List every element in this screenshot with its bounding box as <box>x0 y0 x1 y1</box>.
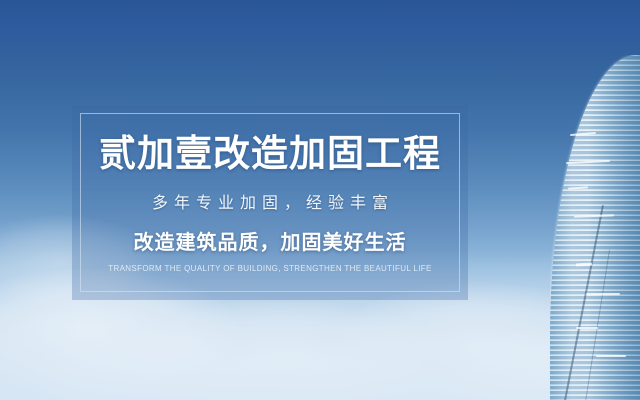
slogan-text: 改造建筑品质，加固美好生活 <box>134 226 407 255</box>
hero-banner: 贰加壹改造加固工程 多年专业加固，经验丰富 改造建筑品质，加固美好生活 TRAN… <box>0 0 640 400</box>
panel-content: 贰加壹改造加固工程 多年专业加固，经验丰富 改造建筑品质，加固美好生活 TRAN… <box>80 113 460 292</box>
window-reflection <box>596 355 626 357</box>
english-tagline: TRANSFORM THE QUALITY OF BUILDING, STREN… <box>108 264 431 273</box>
skyscraper-image <box>550 55 640 400</box>
tower-glass-sheen <box>550 55 640 400</box>
subheadline-text: 多年专业加固，经验丰富 <box>146 189 394 213</box>
text-panel: 贰加壹改造加固工程 多年专业加固，经验丰富 改造建筑品质，加固美好生活 TRAN… <box>72 105 468 300</box>
headline-title: 贰加壹改造加固工程 <box>99 135 441 172</box>
window-reflection <box>586 293 620 295</box>
window-reflection <box>576 327 598 329</box>
tower-body <box>550 55 640 400</box>
